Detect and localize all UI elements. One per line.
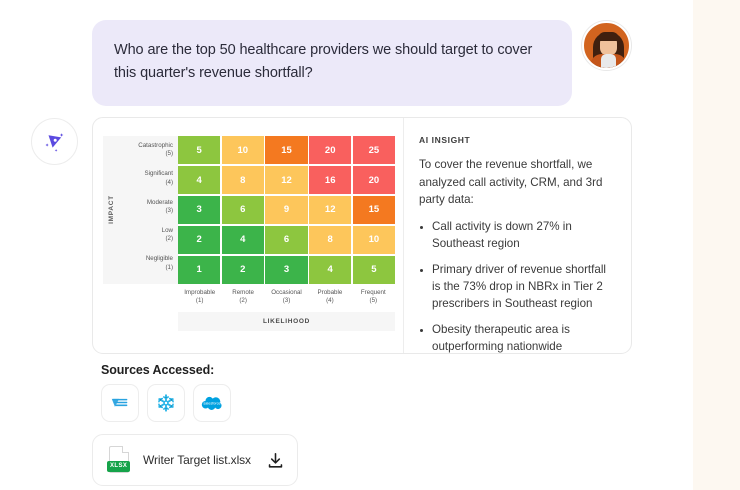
- impact-axis-label: IMPACT: [103, 136, 120, 284]
- likelihood-tick-3: Probable(4): [308, 289, 351, 306]
- ai-insight-bullets: Call activity is down 27% in Southeast r…: [419, 218, 617, 354]
- likelihood-tick-2: Occasional(3): [265, 289, 308, 306]
- user-message-bubble: Who are the top 50 healthcare providers …: [92, 20, 572, 106]
- source-chip-salesforce[interactable]: salesforce: [193, 384, 231, 422]
- ai-insight-intro: To cover the revenue shortfall, we analy…: [419, 156, 617, 209]
- impact-tick-2: Moderate(3): [120, 193, 173, 221]
- heatmap-cell-r2-c2: 9: [265, 196, 307, 224]
- ai-insight-bullet-1: Primary driver of revenue shortfall is t…: [432, 261, 617, 313]
- xlsx-badge: XLSX: [107, 461, 130, 472]
- xlsx-file-icon: XLSX: [107, 446, 131, 475]
- heatmap-cell-r2-c1: 6: [222, 196, 264, 224]
- download-icon[interactable]: [266, 451, 285, 470]
- ai-insight-bullet-2: Obesity therapeutic area is outperformin…: [432, 321, 617, 354]
- heatmap-cell-r3-c2: 6: [265, 226, 307, 254]
- heatmap-cell-r2-c4: 15: [353, 196, 395, 224]
- sources-accessed-label: Sources Accessed:: [101, 363, 214, 377]
- salesforce-icon: salesforce: [200, 391, 224, 415]
- svg-text:salesforce: salesforce: [203, 402, 220, 406]
- impact-tick-1: Significant(4): [120, 164, 173, 192]
- source-chip-veeva[interactable]: [101, 384, 139, 422]
- source-chip-snowflake[interactable]: [147, 384, 185, 422]
- assistant-response-card: IMPACT Catastrophic(5)Significant(4)Mode…: [92, 117, 632, 354]
- heatmap-cell-r4-c4: 5: [353, 256, 395, 284]
- heatmap-cell-r1-c4: 20: [353, 166, 395, 194]
- right-edge-strip: [693, 0, 740, 490]
- heatmap-cell-r1-c0: 4: [178, 166, 220, 194]
- user-message-row: Who are the top 50 healthcare providers …: [92, 20, 632, 106]
- likelihood-axis-label: LIKELIHOOD: [178, 312, 395, 331]
- chat-page: Who are the top 50 healthcare providers …: [0, 0, 693, 490]
- heatmap-cell-r4-c1: 2: [222, 256, 264, 284]
- heatmap-cell-r4-c3: 4: [309, 256, 351, 284]
- impact-tick-labels: Catastrophic(5)Significant(4)Moderate(3)…: [120, 136, 178, 284]
- heatmap-cell-r0-c0: 5: [178, 136, 220, 164]
- risk-matrix-chart: IMPACT Catastrophic(5)Significant(4)Mode…: [93, 118, 403, 353]
- likelihood-tick-1: Remote(2): [221, 289, 264, 306]
- assistant-sparkle-logo: [43, 130, 67, 154]
- heatmap-cell-r2-c3: 12: [309, 196, 351, 224]
- heatmap-cell-r0-c1: 10: [222, 136, 264, 164]
- attachment-card[interactable]: XLSX Writer Target list.xlsx: [92, 434, 298, 486]
- likelihood-tick-labels: Improbable(1)Remote(2)Occasional(3)Proba…: [178, 289, 395, 306]
- snowflake-icon: [155, 392, 177, 414]
- impact-tick-0: Catastrophic(5): [120, 136, 173, 164]
- heatmap-cell-r4-c2: 3: [265, 256, 307, 284]
- impact-tick-4: Negligible(1): [120, 250, 173, 278]
- sources-accessed-list: salesforce: [101, 384, 231, 422]
- veeva-icon: [109, 392, 131, 414]
- attachment-filename: Writer Target list.xlsx: [143, 453, 266, 467]
- likelihood-tick-4: Frequent(5): [352, 289, 395, 306]
- heatmap-cell-r1-c2: 12: [265, 166, 307, 194]
- heatmap-cell-r3-c1: 4: [222, 226, 264, 254]
- heatmap-cell-r2-c0: 3: [178, 196, 220, 224]
- ai-insight-heading: AI INSIGHT: [419, 135, 617, 145]
- heatmap-cell-r4-c0: 1: [178, 256, 220, 284]
- ai-insight-bullet-0: Call activity is down 27% in Southeast r…: [432, 218, 617, 253]
- user-avatar[interactable]: [582, 21, 631, 70]
- impact-tick-3: Low(2): [120, 221, 173, 249]
- ai-insight-panel: AI INSIGHT To cover the revenue shortfal…: [403, 118, 631, 353]
- heatmap-grid: 51015202548121620369121524681012345: [178, 136, 395, 284]
- heatmap-cell-r3-c3: 8: [309, 226, 351, 254]
- heatmap-cell-r1-c3: 16: [309, 166, 351, 194]
- heatmap-cell-r1-c1: 8: [222, 166, 264, 194]
- likelihood-tick-0: Improbable(1): [178, 289, 221, 306]
- assistant-avatar: [31, 118, 78, 165]
- heatmap-cell-r3-c4: 10: [353, 226, 395, 254]
- heatmap-cell-r0-c2: 15: [265, 136, 307, 164]
- heatmap-cell-r0-c4: 25: [353, 136, 395, 164]
- heatmap-cell-r3-c0: 2: [178, 226, 220, 254]
- heatmap-cell-r0-c3: 20: [309, 136, 351, 164]
